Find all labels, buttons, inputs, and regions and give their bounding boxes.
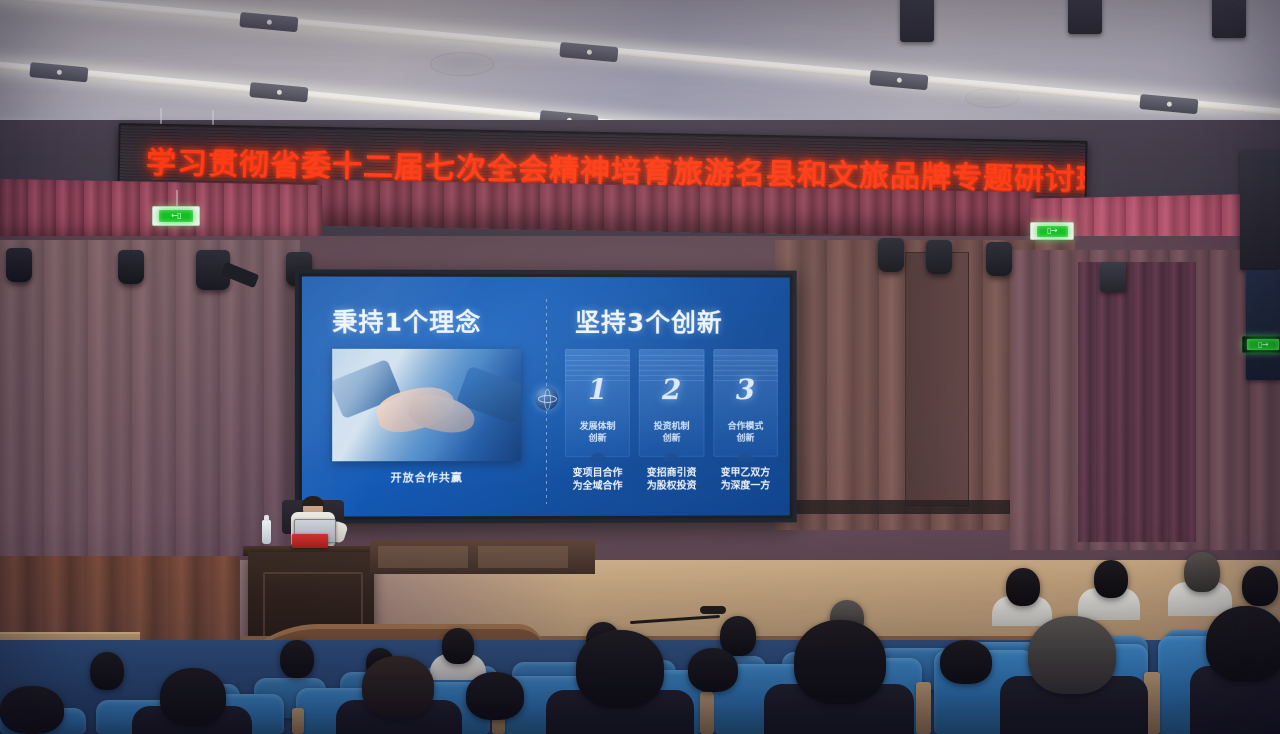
card-caption-line2: 为股权投资 xyxy=(647,481,697,492)
water-bottle xyxy=(262,520,271,544)
card-caption-line1: 变项目合作 xyxy=(573,468,623,479)
exit-sign-center-right: ▯→ xyxy=(1030,222,1074,240)
card-knob xyxy=(589,453,606,462)
wood-wall-left-lighting xyxy=(0,240,300,570)
projection-screen: 秉持1个理念 坚持3个创新 开放合作共赢 1 发展体制 创新 xyxy=(295,269,797,523)
ceiling-speaker xyxy=(900,0,934,42)
slide-cards: 1 发展体制 创新 2 投资机制 创新 xyxy=(565,349,778,457)
card-label: 发展体制 创新 xyxy=(565,421,630,445)
floor-cable xyxy=(700,606,726,614)
card-number: 1 xyxy=(565,373,630,406)
audience-head xyxy=(576,630,664,708)
exit-arrow-right-icon: ▯→ xyxy=(1047,227,1057,235)
seat-armrest xyxy=(292,708,304,734)
presentation-slide: 秉持1个理念 坚持3个创新 开放合作共赢 1 发展体制 创新 xyxy=(302,276,790,516)
exit-sign-far-right: ▯→ xyxy=(1242,336,1280,353)
card-knob xyxy=(663,453,680,462)
card-label-line2: 创新 xyxy=(589,434,607,444)
photo-overlay xyxy=(332,349,521,461)
exit-sign-panel: ←▯ xyxy=(159,210,193,222)
card-caption: 变甲乙双方 为深度一方 xyxy=(713,467,778,493)
slide-card: 3 合作模式 创新 xyxy=(713,349,778,457)
audience-head xyxy=(362,656,434,718)
card-label-line2: 创新 xyxy=(737,434,755,444)
exit-sign-panel: ▯→ xyxy=(1247,339,1279,350)
card-label-line2: 创新 xyxy=(663,434,681,444)
card-caption: 变项目合作 为全域合作 xyxy=(565,467,630,493)
stage-table-panel xyxy=(478,546,568,568)
audience-head xyxy=(90,652,124,690)
card-label: 合作模式 创新 xyxy=(713,421,778,445)
audience-head xyxy=(1028,616,1116,694)
stage-spotlight xyxy=(6,248,32,282)
line-array-speaker xyxy=(1240,150,1280,270)
seat-armrest xyxy=(916,682,931,734)
audience-head xyxy=(794,620,886,704)
photo-caption: 开放合作共赢 xyxy=(332,469,521,485)
audience-head xyxy=(1206,606,1280,682)
audience-head xyxy=(688,648,738,692)
slide-card-captions: 变项目合作 为全域合作 变招商引资 为股权投资 变甲乙双方 为深度一方 xyxy=(565,467,778,493)
card-caption: 变招商引资 为股权投资 xyxy=(639,467,704,493)
card-number: 2 xyxy=(639,373,704,406)
stage-table-panel xyxy=(378,546,468,568)
stage-curtain-right xyxy=(1078,262,1196,542)
slide-card: 1 发展体制 创新 xyxy=(565,349,630,457)
card-caption-line1: 变招商引资 xyxy=(647,468,697,479)
globe-icon xyxy=(535,387,558,410)
card-caption-line2: 为全域合作 xyxy=(573,481,623,492)
ceiling-vent xyxy=(430,52,494,76)
card-label: 投资机制 创新 xyxy=(639,421,704,445)
ceiling-speaker xyxy=(1068,0,1102,34)
audience-head xyxy=(940,640,992,684)
card-knob xyxy=(737,453,754,462)
line-array-speaker xyxy=(1100,262,1126,292)
slide-card: 2 投资机制 创新 xyxy=(639,349,704,457)
audience-head xyxy=(1094,560,1128,598)
slide-heading-right: 坚持3个创新 xyxy=(575,303,723,339)
ceiling-vent xyxy=(965,88,1019,108)
card-label-line1: 发展体制 xyxy=(580,422,616,432)
card-caption-line2: 为深度一方 xyxy=(721,481,771,492)
audience-head xyxy=(1184,552,1220,592)
stage-spotlight xyxy=(118,250,144,284)
exit-arrow-right-icon: ▯→ xyxy=(1258,341,1268,349)
seat-armrest xyxy=(700,692,714,734)
card-caption-line1: 变甲乙双方 xyxy=(721,468,771,479)
stage-door[interactable] xyxy=(905,252,969,506)
stage-spotlight xyxy=(926,240,952,274)
conference-hall-photo: 学习贯彻省委十二届七次全会精神培育旅游名县和文旅品牌专题研讨班 ←▯ ▯→ ▯→ xyxy=(0,0,1280,734)
card-label-line1: 投资机制 xyxy=(654,422,690,432)
audience-head xyxy=(1242,566,1278,606)
exit-sign-panel: ▯→ xyxy=(1037,226,1068,237)
audience-head xyxy=(0,686,64,734)
stage-spotlight xyxy=(986,242,1012,276)
exit-sign-left: ←▯ xyxy=(152,206,200,226)
handshake-photo xyxy=(332,349,521,461)
audience-head xyxy=(442,628,474,664)
audience-head xyxy=(466,672,524,720)
exit-arrow-left-icon: ←▯ xyxy=(171,212,181,220)
stage-spotlight xyxy=(878,238,904,272)
card-number: 3 xyxy=(713,373,778,406)
line-array-speaker xyxy=(1246,270,1280,380)
audience-head xyxy=(280,640,314,678)
audience-head xyxy=(1006,568,1040,606)
audience-head xyxy=(160,668,226,726)
slide-heading-left: 秉持1个理念 xyxy=(332,303,481,339)
red-nameplate xyxy=(292,534,328,548)
card-label-line1: 合作模式 xyxy=(728,422,764,432)
ceiling-speaker xyxy=(1212,0,1246,38)
